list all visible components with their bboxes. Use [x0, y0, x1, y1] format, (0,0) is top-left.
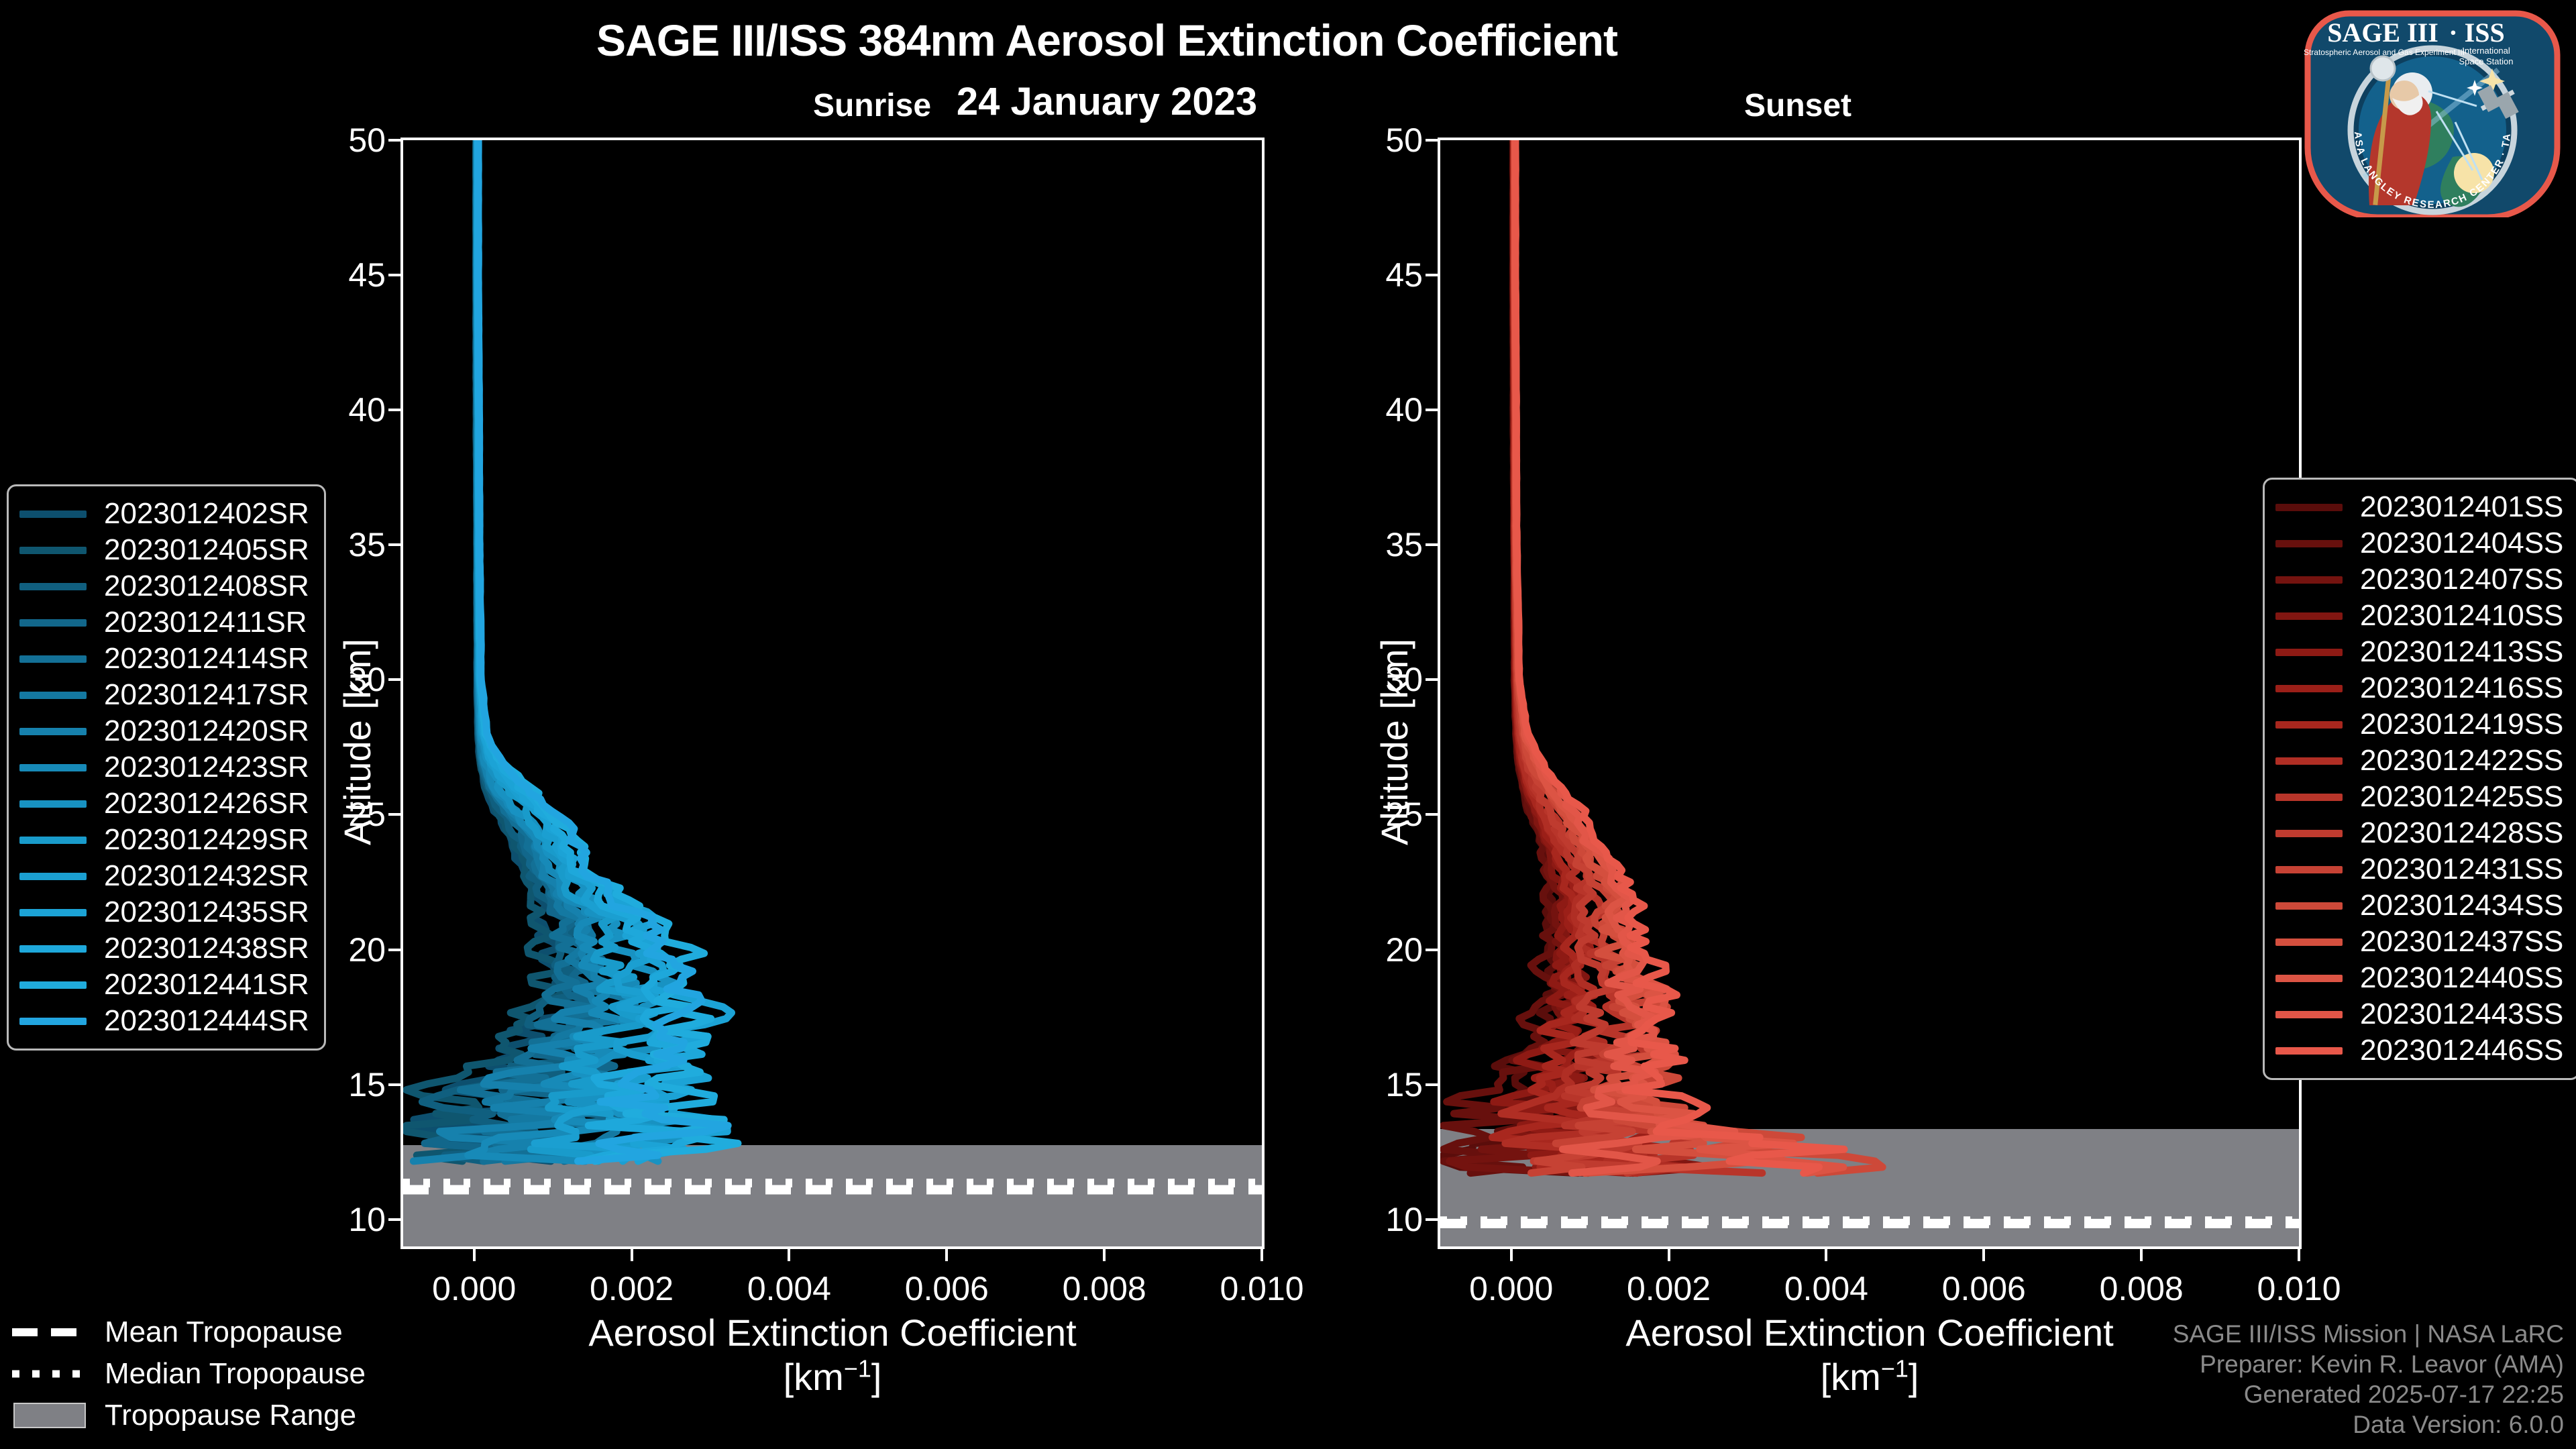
- y-tick-label: 20: [1385, 930, 1423, 969]
- y-tick-mark: [388, 543, 403, 546]
- y-tick-mark: [388, 1218, 403, 1221]
- footer-line-preparer: Preparer: Kevin R. Leavor (AMA): [2173, 1349, 2564, 1379]
- y-tick-mark: [388, 139, 403, 142]
- legend-color-swatch: [19, 692, 87, 699]
- y-tick-mark: [1426, 543, 1440, 546]
- legend-color-swatch: [2275, 576, 2343, 584]
- legend-item[interactable]: 2023012443SS: [2275, 996, 2563, 1032]
- legend-item[interactable]: 2023012441SR: [19, 967, 309, 1003]
- legend-event-label: 2023012437SS: [2360, 925, 2563, 959]
- y-tick-mark: [1426, 949, 1440, 951]
- logo-subtitle-iss-line1: International: [2462, 46, 2510, 56]
- legend-color-swatch: [19, 837, 87, 844]
- legend-event-label: 2023012414SR: [104, 642, 309, 676]
- y-tick-label: 15: [348, 1065, 386, 1104]
- plot-area-sunrise: 1015202530354045500.0000.0020.0040.0060.…: [400, 138, 1265, 1249]
- legend-color-swatch: [19, 511, 87, 518]
- y-tick-mark: [1426, 409, 1440, 411]
- legend-color-swatch: [2275, 902, 2343, 910]
- page-title: SAGE III/ISS 384nm Aerosol Extinction Co…: [0, 15, 2214, 66]
- x-tick-label: 0.006: [905, 1269, 989, 1308]
- legend-item[interactable]: 2023012435SR: [19, 894, 309, 930]
- legend-item[interactable]: 2023012416SS: [2275, 670, 2563, 706]
- legend-event-label: 2023012446SS: [2360, 1034, 2563, 1067]
- legend-event-label: 2023012407SS: [2360, 563, 2563, 596]
- tropopause-legend: Mean Tropopause Median Tropopause Tropop…: [12, 1311, 366, 1436]
- legend-event-label: 2023012443SS: [2360, 998, 2563, 1031]
- legend-color-swatch: [2275, 866, 2343, 873]
- legend-color-swatch: [19, 764, 87, 771]
- legend-item[interactable]: 2023012423SR: [19, 749, 309, 786]
- legend-event-label: 2023012428SS: [2360, 816, 2563, 850]
- legend-item[interactable]: 2023012422SS: [2275, 743, 2563, 779]
- legend-color-swatch: [19, 728, 87, 735]
- legend-sunset[interactable]: 2023012401SS2023012404SS2023012407SS2023…: [2263, 478, 2576, 1080]
- legend-item[interactable]: 2023012407SS: [2275, 561, 2563, 598]
- legend-event-label: 2023012435SR: [104, 896, 309, 929]
- legend-item[interactable]: 2023012404SS: [2275, 525, 2563, 561]
- legend-item[interactable]: 2023012437SS: [2275, 924, 2563, 960]
- legend-item-median-tropopause: Median Tropopause: [12, 1353, 366, 1395]
- legend-event-label: 2023012417SR: [104, 678, 309, 712]
- legend-event-label: 2023012429SR: [104, 823, 309, 857]
- legend-event-label: 2023012411SR: [104, 606, 307, 639]
- x-tick-label: 0.000: [432, 1269, 516, 1308]
- legend-color-swatch: [19, 981, 87, 989]
- legend-event-label: 2023012405SR: [104, 533, 309, 567]
- x-tick-label: 0.006: [1942, 1269, 2026, 1308]
- tropopause-lines-sunrise: [403, 140, 1262, 1246]
- legend-item-mean-tropopause: Mean Tropopause: [12, 1311, 366, 1353]
- legend-event-label: 2023012423SR: [104, 751, 309, 784]
- x-tick-mark: [945, 1246, 948, 1261]
- legend-event-label: 2023012413SS: [2360, 635, 2563, 669]
- x-tick-label: 0.002: [1627, 1269, 1711, 1308]
- y-axis-label-sunrise: Altitude [km]: [335, 639, 379, 845]
- legend-item[interactable]: 2023012413SS: [2275, 634, 2563, 670]
- legend-color-swatch: [19, 909, 87, 916]
- legend-item[interactable]: 2023012428SS: [2275, 815, 2563, 851]
- legend-event-label: 2023012410SS: [2360, 599, 2563, 633]
- legend-item[interactable]: 2023012410SS: [2275, 598, 2563, 634]
- legend-item[interactable]: 2023012419SS: [2275, 706, 2563, 743]
- logo-title-iss: · ISS: [2449, 17, 2504, 48]
- footer-line-version: Data Version: 6.0.0: [2173, 1409, 2564, 1440]
- legend-color-swatch: [2275, 1047, 2343, 1055]
- x-tick-label: 0.000: [1469, 1269, 1553, 1308]
- legend-item-tropopause-range: Tropopause Range: [12, 1395, 366, 1436]
- legend-item[interactable]: 2023012444SR: [19, 1003, 309, 1039]
- legend-event-label: 2023012425SS: [2360, 780, 2563, 814]
- legend-item[interactable]: 2023012432SR: [19, 858, 309, 894]
- y-tick-label: 45: [348, 256, 386, 294]
- legend-label-median: Median Tropopause: [105, 1357, 366, 1391]
- x-tick-mark: [1260, 1246, 1263, 1261]
- legend-color-swatch: [2275, 1011, 2343, 1018]
- legend-color-swatch: [2275, 721, 2343, 729]
- legend-item[interactable]: 2023012417SR: [19, 677, 309, 713]
- x-tick-mark: [2298, 1246, 2300, 1261]
- y-tick-mark: [1426, 1083, 1440, 1086]
- legend-item[interactable]: 2023012411SR: [19, 604, 309, 641]
- x-tick-mark: [1982, 1246, 1985, 1261]
- footer-credits: SAGE III/ISS Mission | NASA LaRC Prepare…: [2173, 1319, 2564, 1440]
- y-tick-label: 15: [1385, 1065, 1423, 1104]
- legend-item[interactable]: 2023012401SS: [2275, 489, 2563, 525]
- legend-color-swatch: [2275, 685, 2343, 692]
- sage-iii-iss-mission-patch-logo: SAGE III· ISSStratospheric Aerosol and G…: [2297, 4, 2568, 217]
- legend-event-label: 2023012422SS: [2360, 744, 2563, 777]
- y-tick-label: 40: [1385, 390, 1423, 429]
- x-axis-units: [km−1]: [1821, 1356, 1919, 1398]
- x-tick-mark: [788, 1246, 790, 1261]
- y-tick-mark: [388, 813, 403, 816]
- footer-line-mission: SAGE III/ISS Mission | NASA LaRC: [2173, 1319, 2564, 1349]
- legend-color-swatch: [2275, 612, 2343, 620]
- legend-color-swatch: [19, 1018, 87, 1025]
- legend-item[interactable]: 2023012420SR: [19, 713, 309, 749]
- legend-color-swatch: [19, 547, 87, 554]
- legend-sunrise[interactable]: 2023012402SR2023012405SR2023012408SR2023…: [7, 484, 326, 1051]
- legend-event-label: 2023012432SR: [104, 859, 309, 893]
- x-tick-mark: [2140, 1246, 2143, 1261]
- x-tick-label: 0.010: [2257, 1269, 2341, 1308]
- x-tick-label: 0.004: [747, 1269, 831, 1308]
- legend-item[interactable]: 2023012414SR: [19, 641, 309, 677]
- footer-line-generated: Generated 2025-07-17 22:25: [2173, 1379, 2564, 1409]
- legend-event-label: 2023012426SR: [104, 787, 309, 820]
- x-axis-units: [km−1]: [784, 1356, 882, 1398]
- legend-event-label: 2023012404SS: [2360, 527, 2563, 560]
- y-tick-label: 45: [1385, 256, 1423, 294]
- logo-subtitle-iss-line2: Space Station: [2459, 56, 2514, 66]
- x-tick-label: 0.008: [2100, 1269, 2184, 1308]
- legend-item[interactable]: 2023012440SS: [2275, 960, 2563, 996]
- dashed-line-icon: [12, 1323, 86, 1342]
- legend-label-mean: Mean Tropopause: [105, 1316, 343, 1349]
- legend-color-swatch: [2275, 794, 2343, 801]
- x-tick-mark: [473, 1246, 476, 1261]
- x-tick-label: 0.010: [1220, 1269, 1303, 1308]
- legend-label-range: Tropopause Range: [105, 1399, 356, 1432]
- legend-item[interactable]: 2023012438SR: [19, 930, 309, 967]
- legend-color-swatch: [2275, 757, 2343, 765]
- legend-event-label: 2023012408SR: [104, 570, 309, 603]
- legend-event-label: 2023012402SR: [104, 497, 309, 531]
- legend-event-label: 2023012438SR: [104, 932, 309, 965]
- x-axis-label-text: Aerosol Extinction Coefficient: [1625, 1311, 2113, 1354]
- y-tick-label: 50: [1385, 121, 1423, 160]
- legend-event-label: 2023012431SS: [2360, 853, 2563, 886]
- x-tick-mark: [1103, 1246, 1106, 1261]
- y-tick-mark: [1426, 678, 1440, 681]
- y-tick-mark: [1426, 1218, 1440, 1221]
- y-axis-label-sunset: Altitude [km]: [1373, 639, 1416, 845]
- legend-color-swatch: [2275, 540, 2343, 547]
- y-tick-label: 20: [348, 930, 386, 969]
- logo-subtitle-experiment: Stratospheric Aerosol and Gas Experiment…: [2304, 48, 2465, 57]
- y-tick-label: 50: [348, 121, 386, 160]
- legend-item[interactable]: 2023012402SR: [19, 496, 309, 532]
- legend-item[interactable]: 2023012434SS: [2275, 888, 2563, 924]
- legend-color-swatch: [2275, 504, 2343, 511]
- dotted-line-icon: [12, 1364, 86, 1383]
- legend-color-swatch: [19, 583, 87, 590]
- legend-color-swatch: [19, 655, 87, 663]
- legend-event-label: 2023012440SS: [2360, 961, 2563, 995]
- legend-event-label: 2023012444SR: [104, 1004, 309, 1038]
- y-tick-mark: [388, 1083, 403, 1086]
- y-tick-label: 10: [1385, 1200, 1423, 1239]
- x-axis-label-text: Aerosol Extinction Coefficient: [588, 1311, 1076, 1354]
- legend-item[interactable]: 2023012425SS: [2275, 779, 2563, 815]
- y-tick-mark: [388, 949, 403, 951]
- staff-orb: [2371, 56, 2395, 80]
- y-tick-label: 10: [348, 1200, 386, 1239]
- legend-event-label: 2023012416SS: [2360, 672, 2563, 705]
- legend-item[interactable]: 2023012431SS: [2275, 851, 2563, 888]
- x-tick-mark: [1825, 1246, 1827, 1261]
- y-tick-label: 35: [1385, 525, 1423, 564]
- filled-box-icon: [12, 1406, 86, 1425]
- x-tick-label: 0.008: [1063, 1269, 1146, 1308]
- legend-item[interactable]: 2023012429SR: [19, 822, 309, 858]
- legend-item[interactable]: 2023012405SR: [19, 532, 309, 568]
- legend-color-swatch: [19, 873, 87, 880]
- y-tick-label: 35: [348, 525, 386, 564]
- legend-item[interactable]: 2023012446SS: [2275, 1032, 2563, 1069]
- legend-event-label: 2023012441SR: [104, 968, 309, 1002]
- y-tick-mark: [388, 274, 403, 276]
- x-tick-mark: [1510, 1246, 1513, 1261]
- y-tick-mark: [388, 678, 403, 681]
- y-tick-mark: [388, 409, 403, 411]
- y-tick-label: 40: [348, 390, 386, 429]
- legend-event-label: 2023012419SS: [2360, 708, 2563, 741]
- legend-event-label: 2023012420SR: [104, 714, 309, 748]
- y-tick-mark: [1426, 813, 1440, 816]
- y-tick-mark: [1426, 274, 1440, 276]
- x-tick-label: 0.002: [590, 1269, 674, 1308]
- legend-color-swatch: [19, 800, 87, 808]
- legend-event-label: 2023012401SS: [2360, 490, 2563, 524]
- legend-color-swatch: [2275, 649, 2343, 656]
- x-tick-mark: [631, 1246, 633, 1261]
- logo-title-sage: SAGE III: [2327, 17, 2438, 48]
- legend-color-swatch: [19, 619, 87, 627]
- panel-caption-sunrise: Sunrise: [771, 87, 973, 124]
- legend-color-swatch: [19, 945, 87, 953]
- panel-caption-sunset: Sunset: [1697, 87, 1898, 124]
- legend-color-swatch: [2275, 975, 2343, 982]
- legend-color-swatch: [2275, 938, 2343, 946]
- legend-item[interactable]: 2023012408SR: [19, 568, 309, 604]
- x-tick-mark: [1668, 1246, 1670, 1261]
- plot-area-sunset: 1015202530354045500.0000.0020.0040.0060.…: [1438, 138, 2302, 1249]
- x-axis-label-sunrise: Aerosol Extinction Coefficient [km−1]: [400, 1311, 1265, 1399]
- x-tick-label: 0.004: [1784, 1269, 1868, 1308]
- legend-color-swatch: [2275, 830, 2343, 837]
- tropopause-lines-sunset: [1440, 140, 2299, 1246]
- y-tick-mark: [1426, 139, 1440, 142]
- legend-event-label: 2023012434SS: [2360, 889, 2563, 922]
- legend-item[interactable]: 2023012426SR: [19, 786, 309, 822]
